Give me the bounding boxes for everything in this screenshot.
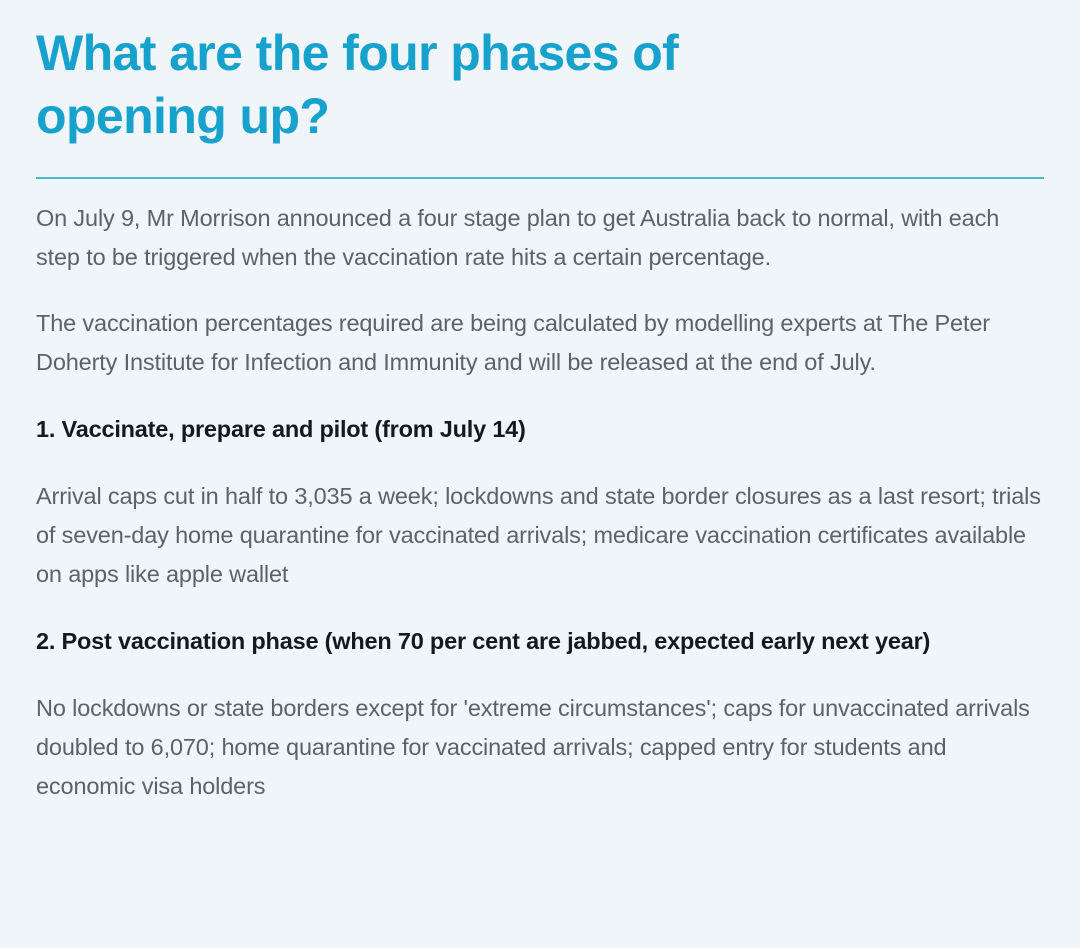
article-body: On July 9, Mr Morrison announced a four … (36, 199, 1044, 806)
title-divider (36, 177, 1044, 179)
page-title: What are the four phases of opening up? (36, 22, 866, 148)
intro-paragraph-1: On July 9, Mr Morrison announced a four … (36, 199, 1044, 277)
phase-body-2: No lockdowns or state borders except for… (36, 689, 1044, 806)
phase-heading-2: 2. Post vaccination phase (when 70 per c… (36, 622, 1044, 661)
article-container: What are the four phases of opening up? … (0, 0, 1080, 948)
phase-body-1: Arrival caps cut in half to 3,035 a week… (36, 477, 1044, 594)
phase-heading-1: 1. Vaccinate, prepare and pilot (from Ju… (36, 410, 1044, 449)
intro-paragraph-2: The vaccination percentages required are… (36, 304, 1044, 382)
